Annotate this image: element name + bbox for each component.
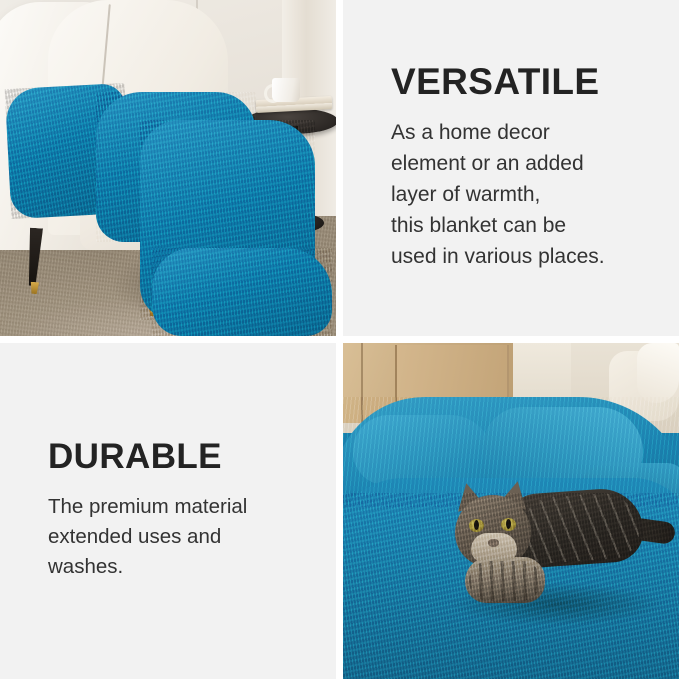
white-mug xyxy=(272,78,300,102)
fur-texture xyxy=(152,248,332,336)
panel-versatile: VERSATILE As a home decor element or an … xyxy=(343,0,679,336)
divider-vertical-top xyxy=(336,0,343,336)
durable-heading: DURABLE xyxy=(48,439,312,476)
divider-horizontal-left xyxy=(0,336,336,343)
divider-horizontal-right xyxy=(343,336,679,343)
photo-living-room xyxy=(0,0,336,336)
versatile-body: As a home decor element or an added laye… xyxy=(391,118,655,272)
product-infographic: VERSATILE As a home decor element or an … xyxy=(0,0,679,679)
blanket-pooled-on-rug xyxy=(152,248,332,336)
panel-durable: DURABLE The premium material extended us… xyxy=(0,343,336,679)
divider-center xyxy=(336,336,343,343)
blanket-shag-texture xyxy=(343,493,679,679)
fur-pillow xyxy=(637,343,679,403)
divider-vertical-bottom xyxy=(336,343,343,679)
versatile-heading: VERSATILE xyxy=(391,63,655,102)
durable-body: The premium material extended uses and w… xyxy=(48,492,312,582)
photo-cat-on-blanket xyxy=(343,343,679,679)
